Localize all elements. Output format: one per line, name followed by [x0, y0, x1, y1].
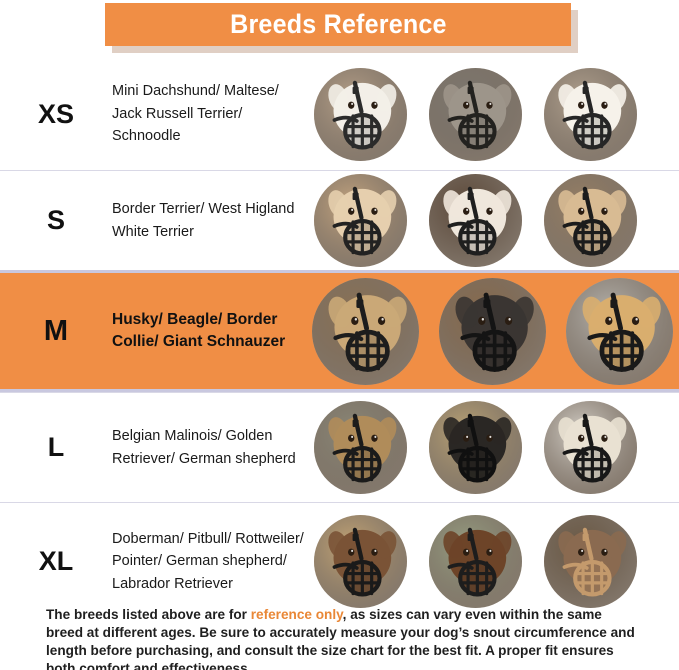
breeds-list-l: Belgian Malinois/ Golden Retriever/ Germ… — [112, 425, 312, 470]
footer-accent-text: reference only — [251, 607, 343, 622]
header-banner: Breeds Reference — [105, 3, 571, 46]
dog-photo-thumbnail — [544, 401, 637, 494]
dog-photo-thumbnail — [429, 515, 522, 608]
dog-photo-thumbnail — [314, 174, 407, 267]
breeds-list-xl: Doberman/ Pitbull/ Rottweiler/ Pointer/ … — [112, 528, 312, 595]
thumbnail-group-m — [312, 278, 679, 385]
thumbnail-group-l — [312, 401, 679, 494]
dog-photo-thumbnail — [429, 401, 522, 494]
dog-photo-thumbnail — [314, 401, 407, 494]
dog-photo-thumbnail — [566, 278, 673, 385]
breeds-list-m: Husky/ Beagle/ Border Collie/ Giant Schn… — [112, 309, 312, 354]
dog-photo-thumbnail — [544, 515, 637, 608]
footer-note: The breeds listed above are for referenc… — [46, 606, 640, 670]
size-label-s: S — [0, 205, 112, 236]
dog-photo-thumbnail — [429, 174, 522, 267]
thumbnail-group-xs — [312, 68, 679, 161]
size-label-l: L — [0, 432, 112, 463]
dog-photo-thumbnail — [314, 515, 407, 608]
banner-body: Breeds Reference — [105, 3, 571, 46]
size-row-xs: XSMini Dachshund/ Maltese/ Jack Russell … — [0, 58, 679, 170]
size-row-m: MHusky/ Beagle/ Border Collie/ Giant Sch… — [0, 270, 679, 392]
size-row-s: SBorder Terrier/ West Higland White Terr… — [0, 170, 679, 270]
size-row-xl: XLDoberman/ Pitbull/ Rottweiler/ Pointer… — [0, 502, 679, 620]
dog-photo-thumbnail — [439, 278, 546, 385]
dog-photo-thumbnail — [429, 68, 522, 161]
footer-text-part1: The breeds listed above are for — [46, 607, 251, 622]
thumbnail-group-s — [312, 174, 679, 267]
breeds-table: XSMini Dachshund/ Maltese/ Jack Russell … — [0, 58, 679, 620]
dog-photo-thumbnail — [544, 174, 637, 267]
dog-photo-thumbnail — [314, 68, 407, 161]
thumbnail-group-xl — [312, 515, 679, 608]
breeds-reference-page: Breeds Reference XSMini Dachshund/ Malte… — [0, 0, 679, 670]
size-label-xs: XS — [0, 99, 112, 130]
size-label-xl: XL — [0, 546, 112, 577]
dog-photo-thumbnail — [312, 278, 419, 385]
size-label-m: M — [0, 315, 112, 348]
breeds-list-xs: Mini Dachshund/ Maltese/ Jack Russell Te… — [112, 80, 312, 147]
page-title: Breeds Reference — [230, 9, 447, 40]
size-row-l: LBelgian Malinois/ Golden Retriever/ Ger… — [0, 392, 679, 502]
dog-photo-thumbnail — [544, 68, 637, 161]
breeds-list-s: Border Terrier/ West Higland White Terri… — [112, 198, 312, 243]
